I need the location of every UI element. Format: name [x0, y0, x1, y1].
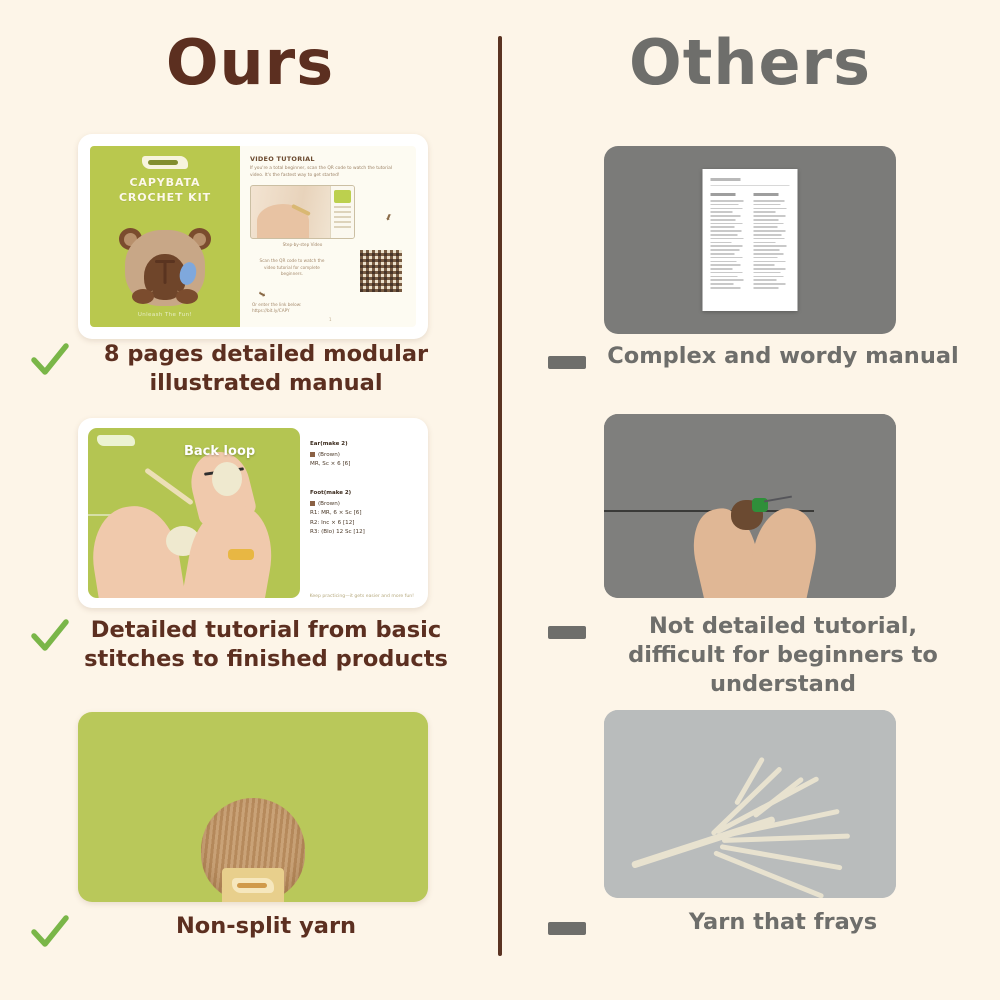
document-line [711, 208, 743, 210]
document-title-bar [711, 178, 741, 181]
document-line [711, 230, 742, 232]
tutorial-pattern-notes: Ear(make 2) (Brown) MR, Sc × 6 [6] Foot(… [308, 428, 418, 598]
color-swatch-icon [310, 452, 315, 457]
kit-footer-text: Unleash The Fun! [90, 312, 240, 318]
thumbnail-sidebar-line [334, 216, 351, 218]
tutorial-photo: Back loop [88, 428, 300, 598]
brand-logo-icon [97, 435, 135, 446]
document-columns [711, 193, 790, 291]
others-column-title: Others [500, 26, 1000, 99]
manual-cover-page: CAPYBATA CROCHET KIT Unleash The Fun! [90, 146, 240, 327]
document-line [754, 234, 782, 236]
spacer [310, 470, 416, 483]
document-column-left [711, 193, 747, 291]
back-loop-label: Back loop [184, 444, 255, 459]
document-line [711, 215, 741, 217]
pattern-row-foot-1: R1: MR, 6 × Sc [6] [310, 510, 362, 516]
dash-icon [548, 922, 586, 935]
document-line [711, 242, 732, 244]
hook-handle-icon [228, 549, 254, 560]
document-line [754, 253, 784, 255]
tutorial-spread: Back loop Ear(make 2) (Brown) MR, Sc × 6… [88, 428, 418, 598]
document-line [754, 226, 778, 228]
others-caption-row-3: Yarn that frays [548, 908, 968, 937]
pattern-section-heading-foot: Foot(make 2) [310, 483, 416, 497]
ours-caption-text-2: Detailed tutorial from basic stitches to… [82, 616, 450, 674]
document-line [754, 264, 775, 266]
others-caption-text-2: Not detailed tutorial, difficult for beg… [598, 612, 968, 698]
document-line [711, 219, 736, 221]
document-line [754, 230, 786, 232]
document-line [754, 219, 779, 221]
thumbnail-sidebar-swatch [334, 190, 351, 203]
document-line [711, 204, 739, 206]
document-line [754, 223, 784, 225]
document-line [754, 276, 784, 278]
dense-document-sheet [703, 169, 798, 311]
document-line [754, 245, 787, 247]
pattern-section-name-foot: Foot [310, 490, 324, 496]
manual-video-page: VIDEO TUTORIAL If you're a total beginne… [240, 146, 416, 327]
document-line [754, 204, 781, 206]
pattern-section-qualifier-ear: (make 2) [320, 441, 347, 447]
hook-needle-icon [764, 496, 792, 503]
ours-caption-row-2: Detailed tutorial from basic stitches to… [30, 616, 450, 674]
document-line [711, 257, 743, 259]
document-line [754, 208, 787, 210]
check-icon [30, 342, 70, 378]
brand-logo-icon [142, 156, 188, 169]
pattern-color-ear: (Brown) [318, 452, 340, 458]
document-line [711, 279, 744, 281]
curved-arrow-icon: ➥ [382, 212, 394, 223]
document-line [754, 242, 776, 244]
thumbnail-sidebar-line [334, 226, 351, 228]
yarn-strand-fray [722, 834, 850, 843]
hand-right [178, 498, 280, 598]
document-line [711, 238, 744, 240]
document-line [711, 268, 733, 270]
pattern-color-foot: (Brown) [318, 501, 340, 507]
document-line [754, 268, 786, 270]
qr-note-text: Scan the QR code to watch the video tuto… [256, 258, 328, 278]
pattern-row-foot-3: R3: (Blo) 12 Sc [12] [310, 529, 365, 535]
pattern-section-qualifier-foot: (make 2) [324, 490, 351, 496]
tutorial-footer-text: Keep practicing—it gets easier and more … [310, 594, 414, 599]
others-manual-image-card [604, 146, 896, 334]
video-tutorial-subtext: If you're a total beginner, scan the QR … [250, 166, 406, 179]
others-caption-row-2: Not detailed tutorial, difficult for beg… [548, 612, 968, 698]
document-line [754, 287, 779, 289]
thumbnail-sidebar-line [334, 206, 351, 208]
others-caption-text-1: Complex and wordy manual [598, 342, 968, 371]
document-line [711, 264, 741, 266]
document-line [711, 283, 734, 285]
thumbnail-sidebar [330, 186, 354, 238]
document-line [711, 272, 743, 274]
document-rule [711, 185, 790, 186]
ours-caption-text-3: Non-split yarn [82, 912, 450, 941]
stitch-piece-upper [212, 462, 242, 496]
yarn-label-band [222, 868, 284, 902]
curved-arrow-icon: ➥ [256, 289, 267, 301]
thumbnail-sidebar-line [334, 221, 351, 223]
document-column-right [754, 193, 790, 291]
qr-code-image [360, 250, 402, 292]
frayed-yarn-scene [604, 710, 896, 898]
crochet-hook-icon [144, 467, 194, 505]
yarn-strand-fray [720, 844, 843, 870]
video-thumbnail-caption: Step-by-step Video [250, 242, 355, 247]
document-heading [754, 193, 779, 196]
dash-icon [548, 626, 586, 639]
gray-tutorial-scene [604, 414, 896, 598]
capybara-illustration [117, 224, 213, 310]
video-thumbnail [250, 185, 355, 239]
document-line [711, 245, 743, 247]
brand-logo-icon [232, 878, 274, 893]
capybara-foot-left [132, 289, 154, 304]
document-line [711, 211, 733, 213]
document-line [754, 261, 786, 263]
document-line [754, 200, 785, 202]
pattern-section-heading-ear: Ear(make 2) [310, 434, 416, 448]
document-heading [711, 193, 736, 196]
check-icon [30, 618, 70, 654]
document-line [711, 261, 737, 263]
others-caption-text-3: Yarn that frays [598, 908, 968, 937]
manual-page-number: 1 [329, 317, 332, 322]
ours-manual-image-card: CAPYBATA CROCHET KIT Unleash The Fun! [78, 134, 428, 339]
document-line [711, 226, 735, 228]
document-line [711, 287, 741, 289]
pattern-row-foot-2: R2: Inc × 6 [12] [310, 520, 354, 526]
pattern-section-name-ear: Ear [310, 441, 320, 447]
document-line [754, 215, 786, 217]
others-yarn-image-card [604, 710, 896, 898]
capybara-foot-right [176, 289, 198, 304]
comparison-infographic: Ours Others CAPYBATA CROCHET KIT [0, 0, 1000, 1000]
document-line [711, 223, 743, 225]
ours-caption-text-1: 8 pages detailed modular illustrated man… [82, 340, 450, 398]
dash-icon [548, 356, 586, 369]
thumbnail-sidebar-line [334, 211, 351, 213]
check-icon [30, 914, 70, 950]
color-swatch-icon [310, 501, 315, 506]
video-tutorial-heading: VIDEO TUTORIAL [250, 155, 406, 163]
document-line [711, 200, 744, 202]
ours-caption-row-1: 8 pages detailed modular illustrated man… [30, 340, 450, 398]
document-line [754, 249, 780, 251]
pattern-body-foot: (Brown) R1: MR, 6 × Sc [6] R2: Inc × 6 [… [310, 500, 416, 538]
document-line [711, 234, 738, 236]
document-line [754, 211, 776, 213]
pattern-row-ear-1: MR, Sc × 6 [6] [310, 461, 350, 467]
kit-title: CAPYBATA CROCHET KIT [119, 176, 211, 205]
document-line [754, 279, 777, 281]
document-line [754, 272, 781, 274]
video-link-text: Or enter the link below: https://bit.ly/… [252, 302, 301, 315]
manual-spread: CAPYBATA CROCHET KIT Unleash The Fun! [90, 146, 416, 327]
document-line [711, 276, 738, 278]
ours-caption-row-3: Non-split yarn [30, 912, 450, 950]
ours-tutorial-image-card: Back loop Ear(make 2) (Brown) MR, Sc × 6… [78, 418, 428, 608]
pattern-body-ear: (Brown) MR, Sc × 6 [6] [310, 451, 416, 470]
ours-yarn-image-card [78, 712, 428, 902]
document-line [711, 249, 740, 251]
yarn-strand-main [631, 816, 776, 869]
others-caption-row-1: Complex and wordy manual [548, 342, 968, 371]
document-line [754, 283, 786, 285]
others-tutorial-image-card [604, 414, 896, 598]
document-line [711, 253, 735, 255]
document-line [754, 257, 778, 259]
ours-column-title: Ours [0, 26, 500, 99]
column-divider [498, 36, 502, 956]
document-line [754, 238, 785, 240]
